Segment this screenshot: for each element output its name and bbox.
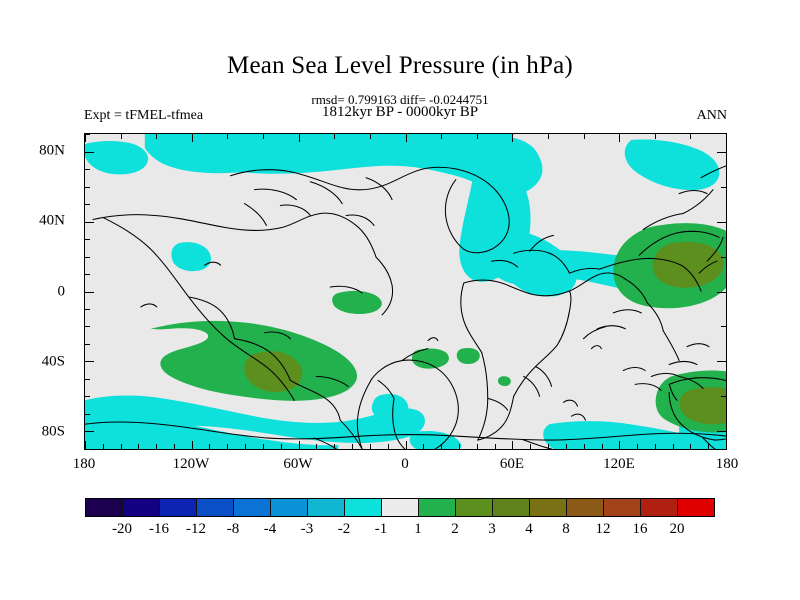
x-tick-major xyxy=(192,441,193,449)
y-tick-minor xyxy=(85,134,90,135)
y-tick-right xyxy=(717,152,726,153)
x-tick-minor xyxy=(174,444,175,449)
x-tick-minor xyxy=(423,444,424,449)
x-tick-minor xyxy=(370,444,371,449)
x-tick-top xyxy=(227,134,228,139)
x-tick-top xyxy=(263,134,264,139)
x-tick-minor xyxy=(388,444,389,449)
map-plot-area[interactable] xyxy=(84,133,727,450)
season-label: ANN xyxy=(697,108,727,124)
y-tick-minor xyxy=(85,344,90,345)
x-tick-minor xyxy=(548,444,549,449)
colorbar-cell xyxy=(530,499,567,516)
x-tick-top xyxy=(690,134,691,139)
colorbar-cell xyxy=(382,499,419,516)
x-tick-top xyxy=(370,134,371,139)
x-axis-label: 180 xyxy=(716,456,739,473)
x-tick-major xyxy=(619,441,620,449)
x-tick-top xyxy=(477,134,478,139)
y-tick-right xyxy=(721,187,726,188)
colorbar-tick-label: -8 xyxy=(227,521,240,538)
x-tick-top xyxy=(299,134,300,142)
x-axis-label: 60E xyxy=(500,456,524,473)
y-tick-minor xyxy=(85,169,90,170)
y-axis-label: 40N xyxy=(39,213,65,230)
x-tick-minor xyxy=(655,444,656,449)
y-tick-minor xyxy=(85,326,90,327)
y-tick-minor xyxy=(85,274,90,275)
colorbar-cell xyxy=(123,499,160,516)
colorbar-cell xyxy=(493,499,530,516)
x-tick-minor xyxy=(281,444,282,449)
x-tick-minor xyxy=(459,444,460,449)
colorbar-cell xyxy=(641,499,678,516)
x-tick-minor xyxy=(352,444,353,449)
map-field xyxy=(85,134,726,449)
colorbar-tick-label: -4 xyxy=(264,521,277,538)
x-tick-top xyxy=(619,134,620,142)
colorbar-cell xyxy=(271,499,308,516)
x-tick-major xyxy=(85,441,86,449)
x-tick-top xyxy=(512,134,513,142)
x-tick-major xyxy=(406,441,407,449)
x-tick-minor xyxy=(316,444,317,449)
colorbar-tick-label: -20 xyxy=(112,521,132,538)
y-tick-minor xyxy=(85,414,90,415)
x-tick-minor xyxy=(690,444,691,449)
figure-canvas: Mean Sea Level Pressure (in hPa) rmsd= 0… xyxy=(0,0,800,600)
colorbar-cell xyxy=(197,499,234,516)
x-tick-minor xyxy=(637,444,638,449)
x-tick-minor xyxy=(263,444,264,449)
colorbar-tick-label: 4 xyxy=(525,521,533,538)
colorbar-tick-label: 8 xyxy=(562,521,570,538)
colorbar-cell xyxy=(419,499,456,516)
x-tick-minor xyxy=(673,444,674,449)
colorbar-tick-label: 3 xyxy=(488,521,496,538)
colorbar-cell xyxy=(456,499,493,516)
colorbar-cell xyxy=(345,499,382,516)
colorbar-tick-label: 16 xyxy=(633,521,648,538)
x-tick-top xyxy=(584,134,585,139)
x-tick-minor xyxy=(566,444,567,449)
x-tick-major xyxy=(512,441,513,449)
y-tick-right xyxy=(721,257,726,258)
x-tick-minor xyxy=(103,444,104,449)
y-axis-label: 0 xyxy=(58,284,66,301)
y-tick-right xyxy=(717,222,726,223)
x-tick-minor xyxy=(584,444,585,449)
y-tick-major xyxy=(85,361,94,362)
x-tick-minor xyxy=(334,444,335,449)
y-tick-minor xyxy=(85,257,90,258)
x-tick-minor xyxy=(530,444,531,449)
colorbar-cell xyxy=(678,499,714,516)
y-tick-right xyxy=(717,292,726,293)
colorbar-cell xyxy=(604,499,641,516)
colorbar-tick-label: -16 xyxy=(149,521,169,538)
x-tick-minor xyxy=(121,444,122,449)
colorbar-cell xyxy=(567,499,604,516)
x-tick-minor xyxy=(156,444,157,449)
x-tick-top xyxy=(548,134,549,139)
y-axis-label: 80N xyxy=(39,143,65,160)
x-tick-top xyxy=(156,134,157,139)
y-axis-label: 40S xyxy=(42,354,65,371)
colorbar-tick-label: -3 xyxy=(301,521,314,538)
y-tick-right xyxy=(721,396,726,397)
colorbar[interactable] xyxy=(85,498,715,517)
x-axis-label: 60W xyxy=(283,456,312,473)
y-tick-major xyxy=(85,222,94,223)
x-tick-minor xyxy=(602,444,603,449)
y-tick-minor xyxy=(85,204,90,205)
colorbar-tick-label: 2 xyxy=(451,521,459,538)
x-tick-top xyxy=(192,134,193,142)
x-axis-label: 120E xyxy=(603,456,635,473)
x-axis-label: 0 xyxy=(401,456,409,473)
x-axis-label: 180 xyxy=(73,456,96,473)
y-tick-major xyxy=(85,431,94,432)
colorbar-cell xyxy=(234,499,271,516)
x-tick-minor xyxy=(495,444,496,449)
y-tick-right xyxy=(717,431,726,432)
x-tick-top xyxy=(406,134,407,142)
colorbar-tick-label: -2 xyxy=(338,521,351,538)
colorbar-tick-label: 1 xyxy=(414,521,422,538)
x-tick-minor xyxy=(138,444,139,449)
y-tick-major xyxy=(85,152,94,153)
page-title: Mean Sea Level Pressure (in hPa) xyxy=(0,52,800,80)
x-tick-minor xyxy=(708,444,709,449)
colorbar-cell xyxy=(308,499,345,516)
x-tick-minor xyxy=(209,444,210,449)
experiment-label: Expt = tFMEL-tfmea xyxy=(84,108,203,124)
colorbar-tick-label: 12 xyxy=(596,521,611,538)
y-tick-minor xyxy=(85,187,90,188)
colorbar-cell xyxy=(86,499,123,516)
colorbar-cell xyxy=(160,499,197,516)
x-tick-major xyxy=(299,441,300,449)
x-axis-label: 120W xyxy=(173,456,210,473)
y-axis-label: 80S xyxy=(42,424,65,441)
x-tick-top xyxy=(85,134,86,142)
y-tick-right xyxy=(721,326,726,327)
x-tick-top xyxy=(334,134,335,139)
colorbar-tick-label: 20 xyxy=(670,521,685,538)
x-tick-minor xyxy=(477,444,478,449)
y-tick-minor xyxy=(85,379,90,380)
x-tick-top xyxy=(441,134,442,139)
colorbar-tick-label: -1 xyxy=(375,521,388,538)
y-tick-major xyxy=(85,292,94,293)
y-tick-minor xyxy=(85,309,90,310)
colorbar-tick-label: -12 xyxy=(186,521,206,538)
x-tick-minor xyxy=(441,444,442,449)
y-tick-right xyxy=(717,361,726,362)
x-tick-minor xyxy=(227,444,228,449)
x-tick-top xyxy=(655,134,656,139)
x-tick-minor xyxy=(245,444,246,449)
y-tick-minor xyxy=(85,239,90,240)
x-tick-top xyxy=(121,134,122,139)
y-tick-minor xyxy=(85,396,90,397)
